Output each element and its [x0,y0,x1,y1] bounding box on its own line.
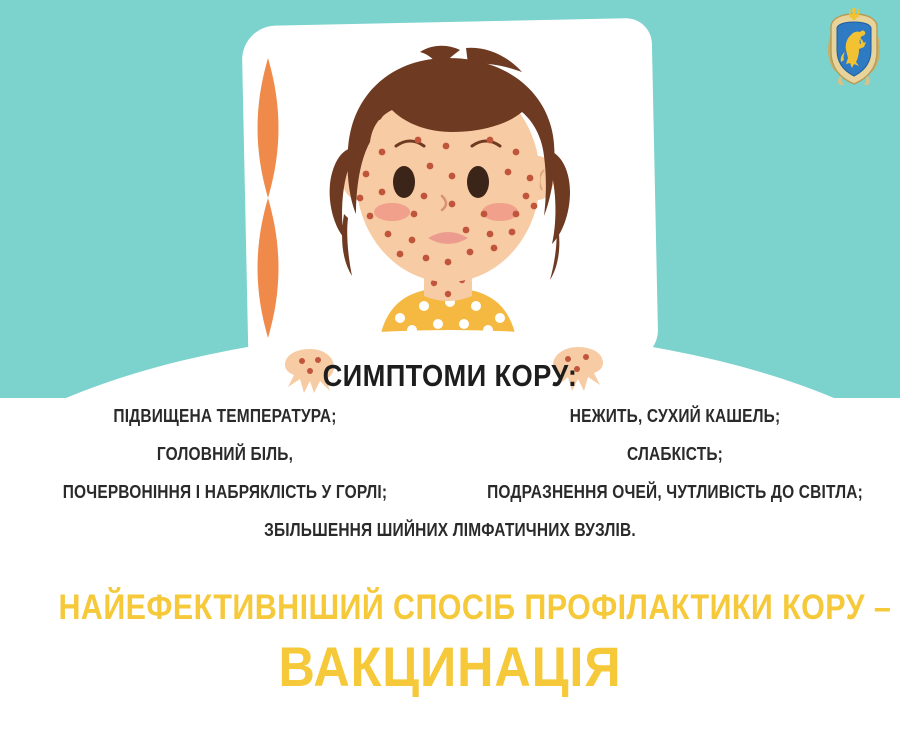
symptom-item: ЗБІЛЬШЕННЯ ШИЙНИХ ЛІМФАТИЧНИХ ВУЗЛІВ. [63,520,837,541]
page-title: СИМПТОМИ КОРУ: [54,358,846,394]
symptom-item: СЛАБКІСТЬ; [482,444,869,465]
eye-right [467,166,489,198]
measles-symptoms-poster: СИМПТОМИ КОРУ: ПІДВИЩЕНА ТЕМПЕРАТУРА; НЕ… [0,0,900,735]
symptom-item: ПОЧЕРВОНІННЯ І НАБРЯКЛІСТЬ У ГОРЛІ; [32,482,419,503]
symptom-item: НЕЖИТЬ, СУХИЙ КАШЕЛЬ; [482,406,869,427]
symptom-item: ПІДВИЩЕНА ТЕМПЕРАТУРА; [32,406,419,427]
symptom-row: ЗБІЛЬШЕННЯ ШИЙНИХ ЛІМФАТИЧНИХ ВУЗЛІВ. [0,520,900,541]
symptom-item: ПОДРАЗНЕННЯ ОЧЕЙ, ЧУТЛИВІСТЬ ДО СВІТЛА; [482,482,869,503]
cheek-right [482,203,518,221]
cta-line-1: НАЙЕФЕКТИВНІШИЙ СПОСІБ ПРОФІЛАКТИКИ КОРУ… [59,588,842,628]
symptom-row: ПОЧЕРВОНІННЯ І НАБРЯКЛІСТЬ У ГОРЛІ; ПОДР… [0,482,900,503]
cheek-left [374,203,410,221]
eye-left [393,166,415,198]
symptom-row: ГОЛОВНИЙ БІЛЬ, СЛАБКІСТЬ; [0,444,900,465]
symptoms-list: ПІДВИЩЕНА ТЕМПЕРАТУРА; НЕЖИТЬ, СУХИЙ КАШ… [0,406,900,558]
cta-line-2: ВАКЦИНАЦІЯ [45,634,855,699]
symptom-row: ПІДВИЩЕНА ТЕМПЕРАТУРА; НЕЖИТЬ, СУХИЙ КАШ… [0,406,900,427]
lviv-oblast-coat-of-arms-icon [826,6,882,90]
symptom-item: ГОЛОВНИЙ БІЛЬ, [32,444,419,465]
